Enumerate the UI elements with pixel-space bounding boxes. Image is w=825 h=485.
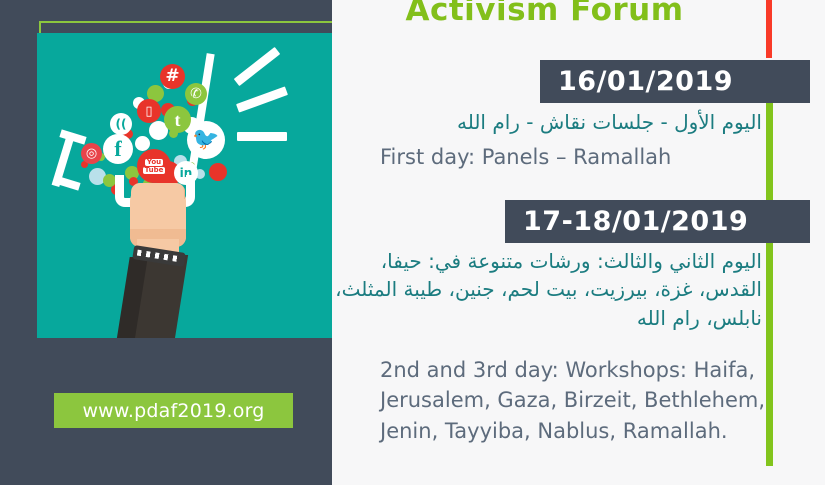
twitter-bird-icon: 🐦 [187, 121, 225, 159]
facebook-icon: f [103, 134, 133, 164]
date-badge-day1: 16/01/2019 [540, 60, 810, 103]
date-badge-day2: 17-18/01/2019 [505, 200, 810, 243]
hashtag-glyph: # [165, 68, 179, 85]
rss-icon: (( [110, 113, 132, 135]
poster-root: ◎ f (( ▯ # ✆ t 🐦 You Tube in [0, 0, 825, 485]
date-badge-day2-text: 17-18/01/2019 [523, 206, 748, 237]
day1-arabic-text: اليوم الأول - جلسات نقاش - رام الله [332, 108, 762, 136]
twitter-small-icon: t [164, 106, 191, 133]
hand-knuckles [131, 183, 185, 199]
website-url-label: www.pdaf2019.org [82, 400, 264, 422]
illustration-teal-box: ◎ f (( ▯ # ✆ t 🐦 You Tube in [37, 33, 332, 338]
deco-dot [135, 136, 150, 151]
right-content-panel: Activism Forum 16/01/2019 اليوم الأول - … [332, 0, 825, 485]
lock-icon: ▯ [137, 99, 161, 123]
left-dark-panel: ◎ f (( ▯ # ✆ t 🐦 You Tube in [0, 0, 332, 485]
website-url-button[interactable]: www.pdaf2019.org [54, 393, 293, 428]
sound-wave-bar-2 [236, 86, 288, 112]
date-badge-day1-text: 16/01/2019 [558, 66, 733, 97]
megaphone-rim-bottom [53, 175, 80, 190]
day2-english-text: 2nd and 3rd day: Workshops: Haifa, Jerus… [380, 355, 800, 446]
instagram-glyph: ◎ [86, 147, 97, 160]
red-accent-rule [766, 0, 772, 58]
deco-dot [209, 163, 227, 181]
page-title: Activism Forum [332, 0, 757, 28]
megaphone-illustration: ◎ f (( ▯ # ✆ t 🐦 You Tube in [37, 33, 332, 338]
instagram-icon: ◎ [81, 143, 102, 164]
sound-wave-bar-3 [237, 132, 287, 141]
youtube-you-text: You [145, 159, 163, 166]
sound-wave-bar-1 [234, 47, 281, 86]
whatsapp-icon: ✆ [185, 83, 207, 105]
youtube-tube-text: Tube [143, 167, 166, 174]
day2-arabic-text: اليوم الثاني والثالث: ورشات متنوعة في: ح… [332, 247, 762, 332]
hashtag-icon: # [160, 64, 185, 89]
day1-english-text: First day: Panels – Ramallah [380, 142, 780, 172]
